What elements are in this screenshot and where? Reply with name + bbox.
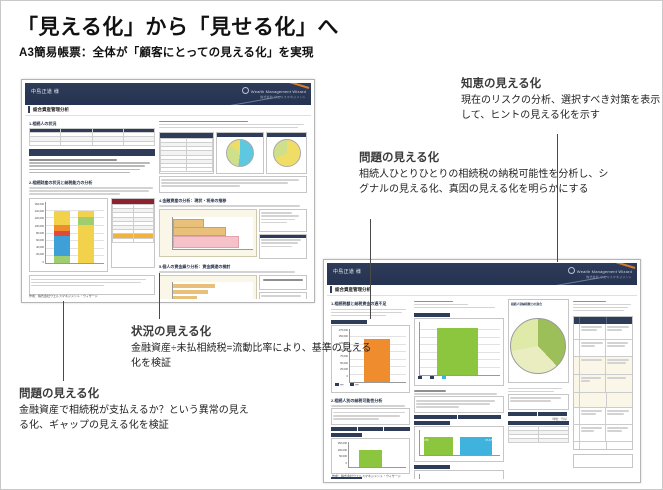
- pie-slices: [510, 318, 566, 374]
- chart-legend: ━━ ━━: [335, 373, 406, 391]
- section-label: 5.個人の資金繰り分析：資金調達の検討: [159, 264, 307, 270]
- stacked-bar-chart[interactable]: 160,000140,000120,000100,00080,00060,000…: [29, 198, 108, 272]
- table-row-highlighted[interactable]: [574, 375, 633, 393]
- callout-body: 現在のリスクの分析、選択すべき対策を表示して、ヒントの見える化を示す: [461, 94, 661, 123]
- client-label: 中島正道 様: [31, 88, 59, 95]
- band-tick-icon: [330, 286, 332, 293]
- issue-chart-1b[interactable]: 47,478 47,478: [414, 426, 505, 462]
- issue-table-body: [574, 324, 633, 450]
- bar-segment: [54, 225, 70, 231]
- document-right-inner: 中島正道 様 Wealth Management Wizard 株式会社 ウエル…: [327, 263, 637, 479]
- company-logo: Wealth Management Wizard 株式会社 ウエルスマネジメント: [568, 267, 632, 279]
- left-doc-column-2: 4.金融資産の分析：現状・将来の推移: [159, 119, 307, 287]
- section-label: 2.相続財産の状況と納税能力の分析: [29, 180, 155, 186]
- breakdown-table[interactable]: [159, 132, 214, 174]
- conclusion-note: [259, 292, 307, 299]
- table-row[interactable]: [574, 340, 633, 357]
- right-doc-column-2: 47,478 47,478 134,672 差額: [414, 299, 505, 465]
- pie-note-box-2: [508, 394, 568, 410]
- band-tick-icon: [28, 106, 30, 113]
- table-header-bar: [508, 421, 568, 425]
- heir-pie-panel[interactable]: 相続人別納税能力の割合: [508, 299, 568, 383]
- logo-mark-icon: [242, 87, 249, 94]
- section-label: 4.金融資産の分析：現状・将来の推移: [159, 198, 307, 204]
- page-frame: 「見える化」から「見せる化」へ A3簡易帳票：全体が「顧客にとっての見える化」を…: [0, 0, 663, 490]
- issue-table-header: [574, 317, 633, 324]
- chart-title-bar: [414, 313, 450, 317]
- pie-legend-row: [508, 412, 568, 416]
- client-label: 中島正道 様: [333, 268, 361, 275]
- callout-body: 金融資産で相続税が支払えるか？という異常の見える化、ギャップの見える化を検証: [19, 404, 254, 433]
- issue-chart-1[interactable]: 150,000100,00050,0000: [331, 438, 410, 474]
- callout-heading: 状況の見える化: [131, 323, 376, 339]
- document-left-band: 総合資産管理分析: [25, 105, 311, 116]
- document-left-header: 中島正道 様 Wealth Management Wizard 株式会社 ウエル…: [25, 83, 311, 105]
- table-row[interactable]: [574, 408, 633, 425]
- band-title: 総合資産管理分析: [335, 287, 371, 293]
- section-label: 1.相続人の状況: [29, 121, 155, 127]
- heirs-table[interactable]: [29, 128, 155, 146]
- tax-bar-chart[interactable]: [414, 318, 505, 386]
- document-left-footer: 作成：株式会社ウエルスマネジメント・ウィザード: [29, 294, 98, 298]
- chart-legend-row-2: [414, 415, 505, 419]
- horizontal-bar-chart[interactable]: [159, 209, 257, 257]
- footer-note-box: [573, 454, 634, 468]
- left-doc-column-1: 1.相続人の状況: [29, 119, 155, 287]
- callout-body: 相続人ひとりひとりの相続税の納税可能性を分析し、シグナルの見える化、真因の見える…: [359, 168, 609, 197]
- chart-legend: [418, 366, 501, 384]
- logo-mark-icon: [568, 267, 575, 274]
- issue-chart-2b[interactable]: 134,672 差額: [414, 470, 505, 479]
- company-logo: Wealth Management Wizard 株式会社 ウエルスマネジメント: [242, 87, 306, 99]
- page-subtitle: A3簡易帳票：全体が「顧客にとっての見える化」を実現: [19, 44, 314, 60]
- callout-mondai-left: 問題の見える化 金融資産で相続税が支払えるか？という異常の見える化、ギャップの見…: [19, 385, 254, 433]
- band-title: 総合資産管理分析: [33, 107, 69, 113]
- callout-heading: 問題の見える化: [359, 149, 609, 165]
- callout-heading: 知恵の見える化: [461, 75, 661, 91]
- pie-note-box: [159, 176, 307, 193]
- document-right-footer: 作成：株式会社ウエルスマネジメント・ウィザード: [332, 474, 401, 478]
- table-row-highlighted[interactable]: [574, 357, 633, 375]
- chart-title-bar: [414, 465, 450, 469]
- callout-body: 金融資産÷未払相続税=流動比率により、基準の見える化を検証: [131, 342, 376, 371]
- table-row-highlighted[interactable]: [574, 393, 633, 408]
- document-left[interactable]: 中島正道 様 Wealth Management Wizard 株式会社 ウエル…: [21, 79, 315, 303]
- bar-segment: [78, 225, 94, 263]
- analysis-note-box: [331, 408, 410, 425]
- legend-box: [259, 209, 307, 232]
- bar-segment: [54, 211, 70, 224]
- logo-name: Wealth Management Wizard: [577, 269, 632, 274]
- bar-segment: [54, 236, 70, 256]
- bar: [359, 450, 382, 468]
- table-row[interactable]: [574, 425, 633, 442]
- section-label: 2.相続人別の納税可能性分析: [331, 398, 410, 404]
- cashflow-chart[interactable]: [159, 275, 257, 299]
- analysis-note-box-2: [414, 396, 505, 413]
- bar-segment: [78, 211, 94, 216]
- callout-heading: 問題の見える化: [19, 385, 254, 401]
- leader-line-joukyou: [159, 273, 160, 319]
- right-doc-column-3: 相続人別納税能力の割合 （単位：千円）: [508, 299, 568, 465]
- chart-title-bar: [414, 421, 450, 425]
- conclusion-box: [259, 275, 307, 290]
- right-doc-column-4: [573, 299, 634, 465]
- subsection-bar: [29, 149, 155, 156]
- pie-chart-funds[interactable]: [266, 132, 307, 174]
- page-title: 「見える化」から「見せる化」へ: [17, 11, 339, 41]
- bar-segment: [78, 217, 94, 226]
- notes-block: [29, 159, 155, 173]
- bar: [424, 437, 453, 456]
- logo-sub: 株式会社 ウエルスマネジメント: [242, 95, 306, 99]
- summary-note-box: [29, 275, 155, 295]
- leader-line-mondai-right: [370, 219, 371, 319]
- callout-joukyou: 状況の見える化 金融資産÷未払相続税=流動比率により、基準の見える化を検証: [131, 323, 376, 371]
- bar-segment: [54, 231, 70, 236]
- assets-table[interactable]: [111, 198, 155, 268]
- document-right-header: 中島正道 様 Wealth Management Wizard 株式会社 ウエル…: [327, 263, 637, 285]
- chart-legend-row: [331, 427, 410, 431]
- pie-chart-assets[interactable]: [216, 132, 264, 174]
- pie-slices: [226, 139, 254, 167]
- callout-chie: 知恵の見える化 現在のリスクの分析、選択すべき対策を表示して、ヒントの見える化を…: [461, 75, 661, 123]
- pie-slices: [273, 139, 301, 167]
- bar-segment: [54, 256, 70, 263]
- table-row[interactable]: [574, 324, 633, 340]
- chart-title-bar: [331, 433, 362, 437]
- issue-table[interactable]: [573, 316, 634, 450]
- document-right-band: 総合資産管理分析: [327, 285, 637, 296]
- logo-name: Wealth Management Wizard: [251, 89, 306, 94]
- callout-mondai-right: 問題の見える化 相続人ひとりひとりの相続税の納税可能性を分析し、シグナルの見える…: [359, 149, 609, 197]
- leader-line-mondai-left: [63, 301, 64, 381]
- comment-box: [259, 234, 307, 259]
- table-row[interactable]: [574, 442, 633, 450]
- mini-detail-table[interactable]: [508, 426, 568, 444]
- bar-threshold-band: [173, 236, 239, 248]
- document-left-inner: 中島正道 様 Wealth Management Wizard 株式会社 ウエル…: [25, 83, 311, 299]
- logo-sub: 株式会社 ウエルスマネジメント: [568, 275, 632, 279]
